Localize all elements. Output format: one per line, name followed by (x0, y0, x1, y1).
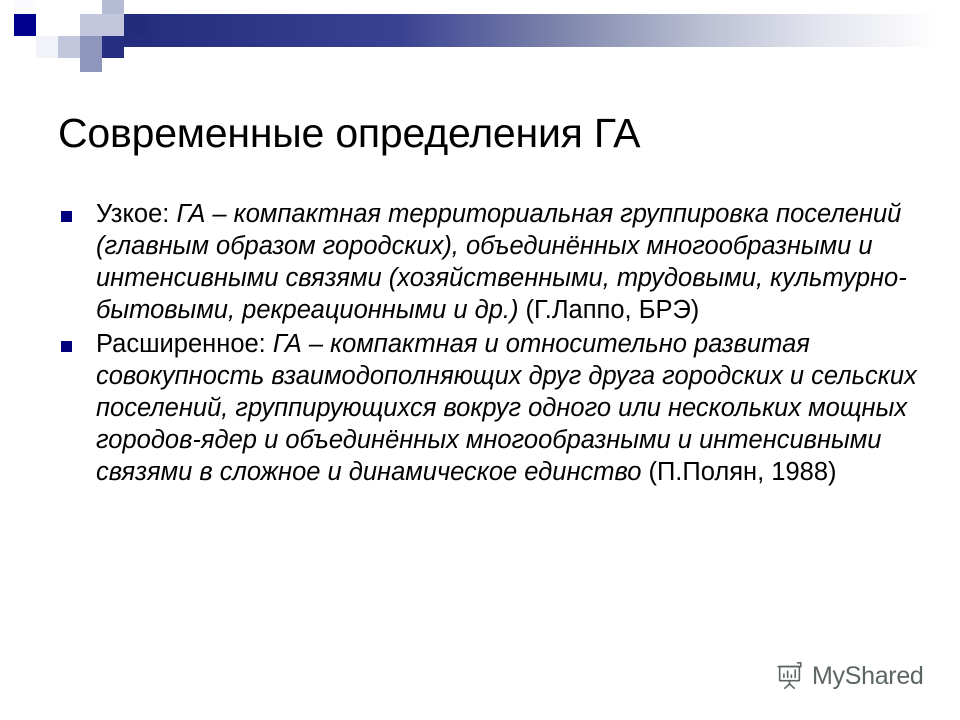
deco-square (124, 14, 146, 36)
deco-square (58, 36, 80, 58)
presentation-board-icon (775, 660, 805, 691)
bullet-lead-label: Узкое: (96, 200, 176, 228)
bullet-paragraph: Расширенное: ГА – компактная и относител… (96, 328, 938, 488)
deco-square (36, 0, 58, 14)
deco-square (124, 0, 146, 14)
slide-header-decoration (0, 0, 960, 70)
bullet-paragraph: Узкое: ГА – компактная территориальная г… (96, 198, 938, 326)
list-item: Узкое: ГА – компактная территориальная г… (58, 198, 938, 326)
deco-square (80, 36, 102, 58)
deco-square (102, 36, 124, 58)
deco-square (80, 58, 102, 72)
bullet-square-icon (61, 211, 72, 222)
deco-square (14, 36, 36, 58)
deco-square (36, 36, 58, 58)
deco-square (14, 0, 36, 14)
bullet-citation: (П.Полян, 1988) (648, 458, 836, 486)
deco-square (102, 14, 124, 36)
watermark: MyShared (775, 660, 924, 691)
page-title: Современные определения ГА (58, 109, 908, 157)
deco-square (102, 0, 124, 14)
bullet-list: Узкое: ГА – компактная территориальная г… (58, 198, 938, 490)
bullet-square-icon (61, 341, 72, 352)
bullet-citation: (Г.Лаппо, БРЭ) (526, 296, 700, 324)
bullet-definition-text: ГА – компактная территориальная группиро… (96, 200, 907, 324)
deco-square (58, 14, 80, 36)
deco-square (58, 58, 80, 72)
watermark-label: MyShared (812, 661, 924, 691)
list-item: Расширенное: ГА – компактная и относител… (58, 328, 938, 488)
bullet-lead-label: Расширенное: (96, 330, 273, 358)
deco-square (80, 14, 102, 36)
deco-square-accent (14, 14, 36, 36)
